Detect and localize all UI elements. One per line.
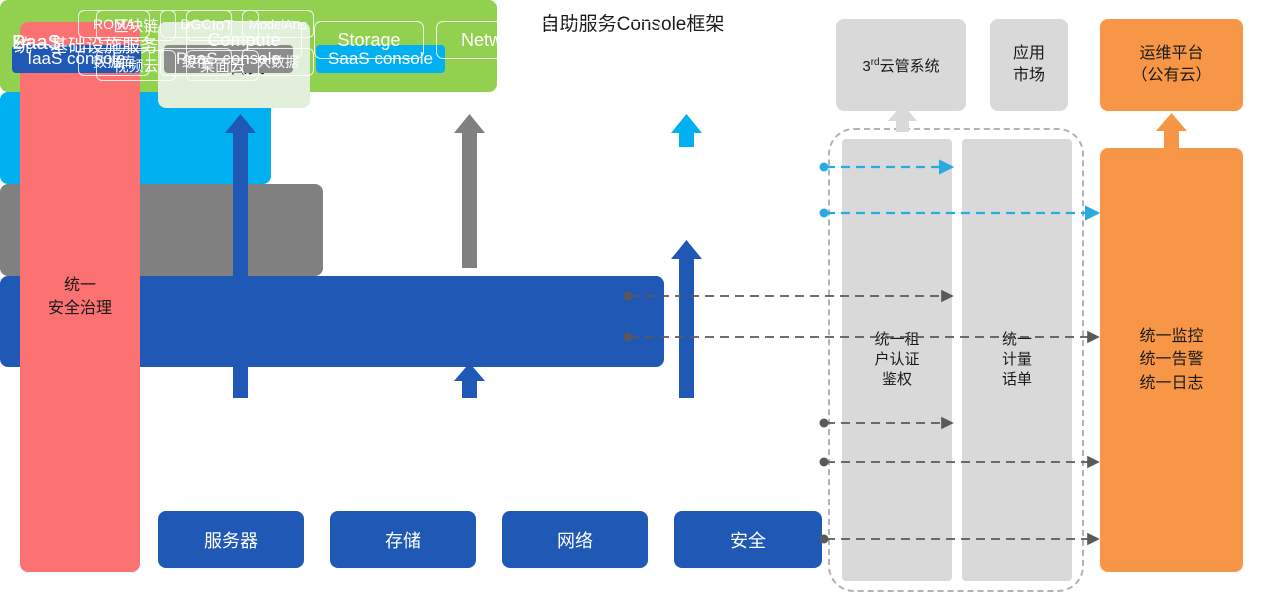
arrow-ops-column-to-ops-top: [1156, 113, 1187, 148]
unified-tenant-auth-column[interactable]: 统一租 户认证 鉴权: [842, 139, 952, 581]
hardware-box-network[interactable]: 网络: [502, 511, 648, 568]
arrow-infra-to-saas: [671, 240, 702, 398]
arrow-paas-to-console: [454, 114, 485, 268]
hardware-box-storage[interactable]: 存储: [330, 511, 476, 568]
app-market-label: 应用 市场: [1013, 43, 1045, 86]
unified-monitoring-panel[interactable]: 统一监控 统一告警 统一日志: [1100, 148, 1243, 572]
infra-chip-network[interactable]: Network: [436, 21, 552, 59]
arrow-infra-to-paas: [454, 363, 485, 398]
arrow-saas-to-saas-console: [671, 114, 702, 147]
unified-tenant-auth-label: 统一租 户认证 鉴权: [874, 330, 919, 391]
ops-platform-public-cloud-box[interactable]: 运维平台 （公有云）: [1100, 19, 1243, 111]
third-party-cloud-management-label: 3rd云管系统: [862, 55, 939, 76]
infra-chip-cce[interactable]: CCE: [564, 21, 660, 59]
unified-monitoring-label: 统一监控 统一告警 统一日志: [1139, 325, 1203, 395]
unified-infrastructure-service-label: 统一基础设施服务: [14, 32, 158, 58]
architecture-diagram: 统一 安全治理 API网关 自助服务Console框架 IaaS console…: [0, 0, 1265, 605]
unified-metering-column[interactable]: 统一 计量 话单: [962, 139, 1072, 581]
hardware-box-server[interactable]: 服务器: [158, 511, 304, 568]
third-party-cloud-management-box[interactable]: 3rd云管系统: [836, 19, 966, 111]
unified-security-governance-panel[interactable]: 统一 安全治理: [20, 22, 140, 572]
ops-platform-public-cloud-label: 运维平台 （公有云）: [1131, 43, 1211, 86]
app-market-box[interactable]: 应用 市场: [990, 19, 1068, 111]
infra-chip-storage[interactable]: Storage: [314, 21, 424, 59]
unified-metering-label: 统一 计量 话单: [1002, 330, 1032, 391]
unified-security-governance-label: 统一 安全治理: [48, 274, 112, 320]
infra-chip-compute[interactable]: Compute: [186, 21, 302, 59]
ordinal-superscript: rd: [871, 57, 880, 68]
hardware-box-security[interactable]: 安全: [674, 511, 822, 568]
